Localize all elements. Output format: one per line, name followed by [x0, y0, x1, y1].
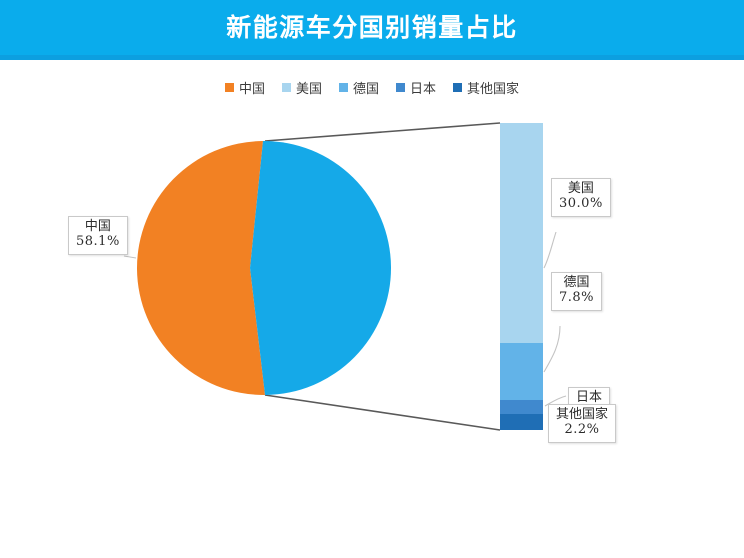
connector-line-top — [265, 123, 500, 141]
leader-line-china — [124, 256, 136, 258]
callout-other-value: 2.2% — [556, 423, 608, 438]
bar-of-pie-graphic — [0, 0, 744, 558]
callout-usa[interactable]: 美国 30.0% — [551, 178, 611, 217]
callout-other-name: 其他国家 — [556, 408, 608, 423]
bar-segment-usa[interactable] — [500, 123, 543, 343]
pie-slice-other-group[interactable] — [250, 141, 391, 395]
connector-line-bottom — [265, 395, 500, 430]
bar-segment-japan[interactable] — [500, 400, 543, 414]
leader-line-usa — [544, 232, 556, 268]
callout-china-name: 中国 — [76, 220, 120, 235]
callout-germany-name: 德国 — [559, 276, 594, 291]
pie-slice-china[interactable] — [137, 141, 265, 395]
callout-china-value: 58.1% — [76, 235, 120, 250]
leader-line-germany — [544, 326, 560, 372]
bar-segment-germany[interactable] — [500, 343, 543, 400]
chart-canvas: 新能源车分国别销量占比 中国 美国 德国 日本 其他国家 — [0, 0, 744, 558]
callout-other[interactable]: 其他国家 2.2% — [548, 404, 616, 443]
callout-china[interactable]: 中国 58.1% — [68, 216, 128, 255]
callout-germany-value: 7.8% — [559, 291, 594, 306]
callout-germany[interactable]: 德国 7.8% — [551, 272, 602, 311]
callout-usa-name: 美国 — [559, 182, 603, 197]
callout-usa-value: 30.0% — [559, 197, 603, 212]
bar-segment-other[interactable] — [500, 414, 543, 430]
